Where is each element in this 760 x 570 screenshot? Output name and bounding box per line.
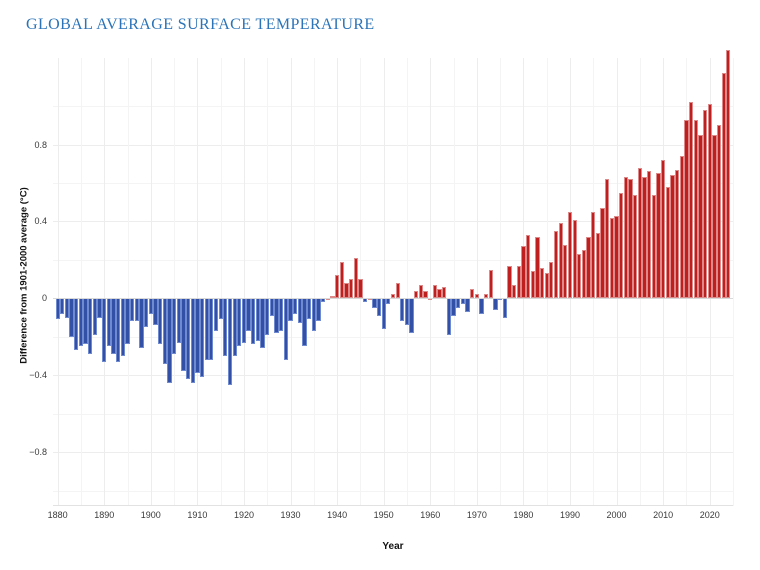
page-title: GLOBAL AVERAGE SURFACE TEMPERATURE [26, 16, 375, 34]
x-tick-label: 1890 [94, 510, 114, 520]
global-temperature-chart: GLOBAL AVERAGE SURFACE TEMPERATURE 0.80.… [0, 0, 760, 570]
zero-line-layer [53, 58, 733, 506]
x-axis-tick-labels: 1880189019001910192019301940195019601970… [53, 508, 733, 526]
x-tick-label: 1960 [420, 510, 440, 520]
x-tick-label: 1920 [234, 510, 254, 520]
x-tick-label: 1910 [187, 510, 207, 520]
gridline-vertical-minor [733, 58, 734, 506]
y-tick-label: 0 [42, 293, 47, 303]
y-tick-label: 0.8 [34, 140, 47, 150]
x-tick-label: 1930 [281, 510, 301, 520]
x-tick-label: 1990 [560, 510, 580, 520]
zero-baseline [53, 298, 733, 299]
x-tick-label: 2010 [653, 510, 673, 520]
x-tick-label: 2000 [607, 510, 627, 520]
x-tick-label: 1980 [513, 510, 533, 520]
plot-area [53, 58, 733, 506]
x-tick-label: 1940 [327, 510, 347, 520]
x-axis-line [53, 505, 733, 506]
x-tick-label: 1950 [374, 510, 394, 520]
y-tick-label: −0.8 [29, 447, 47, 457]
x-axis-title: Year [53, 541, 733, 552]
y-tick-label: 0.4 [34, 216, 47, 226]
y-axis-title: Difference from 1901-2000 average (°C) [19, 66, 30, 486]
x-tick-label: 1880 [48, 510, 68, 520]
x-tick-label: 1970 [467, 510, 487, 520]
y-tick-label: −0.4 [29, 370, 47, 380]
x-tick-label: 1900 [141, 510, 161, 520]
x-tick-label: 2020 [700, 510, 720, 520]
